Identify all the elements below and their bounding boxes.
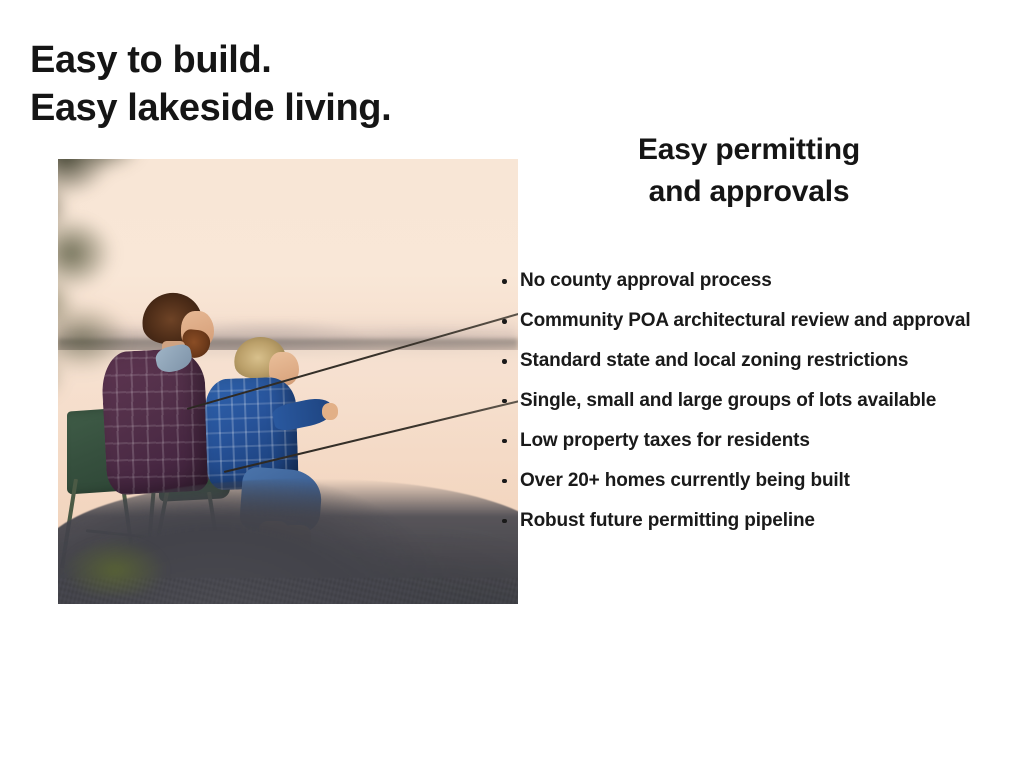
right-content-column: Easy permitting and approvals No county …: [490, 104, 1024, 548]
moss-patch: [67, 533, 187, 595]
man-plaid-shirt: [101, 348, 211, 497]
page-title-line-2: Easy lakeside living.: [30, 85, 500, 133]
list-item: No county approval process: [496, 268, 1024, 295]
list-item: Standard state and local zoning restrict…: [496, 348, 1024, 375]
boy-hand: [322, 403, 338, 420]
feature-bullet-list: No county approval process Community POA…: [490, 268, 1024, 535]
list-item: Over 20+ homes currently being built: [496, 468, 1024, 495]
list-item: Single, small and large groups of lots a…: [496, 388, 1024, 415]
page-title-line-1: Easy to build.: [30, 37, 500, 85]
section-heading-line-1: Easy permitting: [490, 129, 1008, 172]
page-title: Easy to build. Easy lakeside living.: [30, 37, 500, 133]
list-item: Robust future permitting pipeline: [496, 508, 1024, 535]
lakeside-fishing-photo: [58, 159, 518, 604]
list-item: Community POA architectural review and a…: [496, 308, 1024, 335]
photo-canvas: [58, 159, 518, 604]
slide-canvas: Easy to build. Easy lakeside living.: [0, 0, 1024, 768]
list-item: Low property taxes for residents: [496, 428, 1024, 455]
section-heading: Easy permitting and approvals: [490, 129, 1024, 214]
section-heading-line-2: and approvals: [490, 171, 1008, 214]
